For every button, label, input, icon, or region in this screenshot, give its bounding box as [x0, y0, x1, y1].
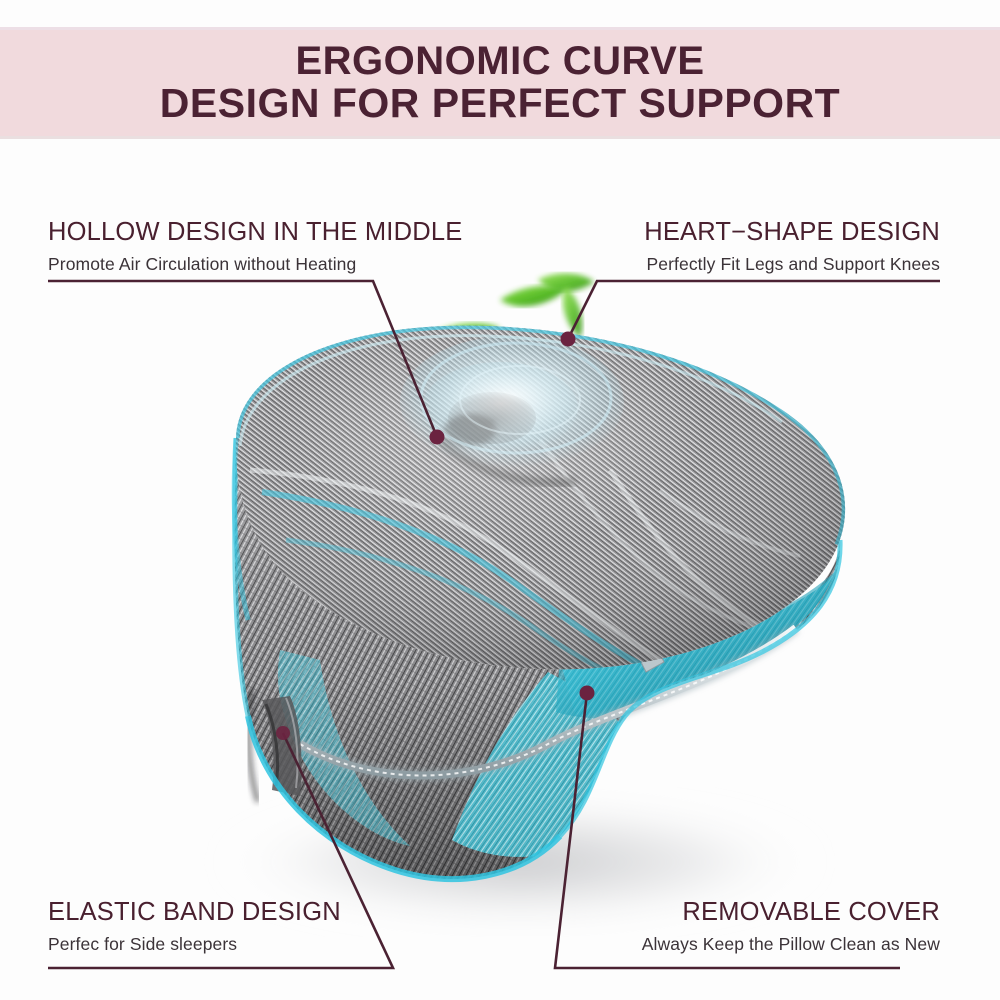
callout-heart-shape: HEART−SHAPE DESIGN Perfectly Fit Legs an… [597, 218, 940, 274]
title-line-1: ERGONOMIC CURVE [295, 41, 704, 83]
callout-hollow-subtitle: Promote Air Circulation without Heating [48, 254, 462, 274]
product-image [0, 0, 1000, 1000]
title-line-2: DESIGN FOR PERFECT SUPPORT [160, 82, 840, 125]
callout-hollow-title: HOLLOW DESIGN IN THE MIDDLE [48, 218, 462, 246]
callout-elastic-band: ELASTIC BAND DESIGN Perfec for Side slee… [48, 898, 341, 954]
callout-heart-subtitle: Perfectly Fit Legs and Support Knees [597, 254, 940, 274]
callout-removable-title: REMOVABLE COVER [597, 898, 940, 926]
infographic-page: ERGONOMIC CURVE DESIGN FOR PERFECT SUPPO… [0, 0, 1000, 1000]
callout-heart-title: HEART−SHAPE DESIGN [597, 218, 940, 246]
callout-hollow-design: HOLLOW DESIGN IN THE MIDDLE Promote Air … [48, 218, 462, 274]
callout-elastic-subtitle: Perfec for Side sleepers [48, 934, 341, 954]
callout-removable-subtitle: Always Keep the Pillow Clean as New [597, 934, 940, 954]
page-title: ERGONOMIC CURVE DESIGN FOR PERFECT SUPPO… [0, 27, 1000, 139]
callout-removable-cover: REMOVABLE COVER Always Keep the Pillow C… [597, 898, 940, 954]
callout-elastic-title: ELASTIC BAND DESIGN [48, 898, 341, 926]
